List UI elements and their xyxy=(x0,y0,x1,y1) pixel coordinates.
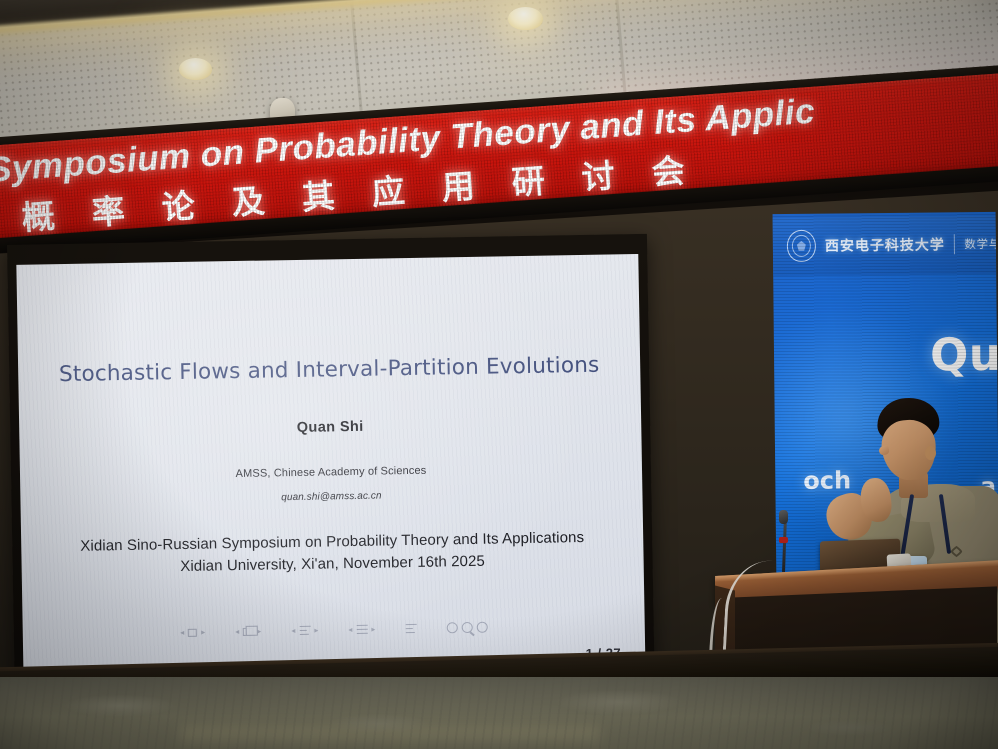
subsection-nav-icon[interactable] xyxy=(299,626,310,635)
nav-arrow-icon: ◂ xyxy=(348,625,352,634)
slide-event-line-2: Xidian University, Xi'an, November 16th … xyxy=(180,552,485,574)
university-crest-icon xyxy=(787,230,816,262)
slide-author: Quan Shi xyxy=(19,414,641,441)
slide-title: Stochastic Flows and Interval-Partition … xyxy=(18,352,640,388)
blue-screen-title-text: Qua xyxy=(930,327,998,381)
projection-screen: Stochastic Flows and Interval-Partition … xyxy=(7,234,655,693)
conference-photo-scene: Symposium on Probability Theory and Its … xyxy=(0,0,998,749)
nav-arrow-icon: ◂ xyxy=(235,627,239,636)
slide-nav-icon[interactable] xyxy=(188,628,197,636)
nav-arrow-icon: ▸ xyxy=(201,628,205,637)
frame-nav-icon[interactable] xyxy=(243,627,253,635)
department-name-label: 数学与统计学院 xyxy=(964,235,998,252)
microphone-icon xyxy=(779,510,788,524)
section-nav-icon[interactable] xyxy=(356,624,367,634)
nav-arrow-icon: ▸ xyxy=(371,625,375,634)
presenter-ear xyxy=(925,446,936,460)
floor-reflection xyxy=(180,727,600,749)
search-nav-icon[interactable] xyxy=(461,622,472,633)
dome-light-icon xyxy=(508,7,543,30)
doc-nav-icon[interactable] xyxy=(405,624,416,633)
nav-arrow-icon: ◂ xyxy=(180,628,184,637)
hoodie-logo-icon xyxy=(947,544,966,559)
forward-nav-icon[interactable] xyxy=(476,622,487,633)
presentation-slide[interactable]: Stochastic Flows and Interval-Partition … xyxy=(16,254,645,687)
back-nav-icon[interactable] xyxy=(446,622,457,633)
slide-email: quan.shi@amss.ac.cn xyxy=(20,486,642,508)
dome-light-icon xyxy=(179,58,212,80)
slide-event-info: Xidian Sino-Russian Symposium on Probabi… xyxy=(21,526,644,580)
logo-divider xyxy=(954,234,956,254)
beamer-navigation-bar[interactable]: ◂ ▸ ◂ ▸ ◂ ▸ ◂ ▸ xyxy=(23,619,645,641)
university-logo: 西安电子科技大学 数学与统计学院 xyxy=(787,227,998,262)
university-name-label: 西安电子科技大学 xyxy=(825,234,945,255)
slide-event-line-1: Xidian Sino-Russian Symposium on Probabi… xyxy=(80,529,584,555)
nav-arrow-icon: ◂ xyxy=(291,626,295,635)
slide-affiliation: AMSS, Chinese Academy of Sciences xyxy=(20,461,642,484)
nav-arrow-icon: ▸ xyxy=(314,626,318,635)
blue-screen-sub-text: och xyxy=(803,466,851,494)
floor xyxy=(0,677,998,749)
microphone-indicator xyxy=(779,537,788,543)
